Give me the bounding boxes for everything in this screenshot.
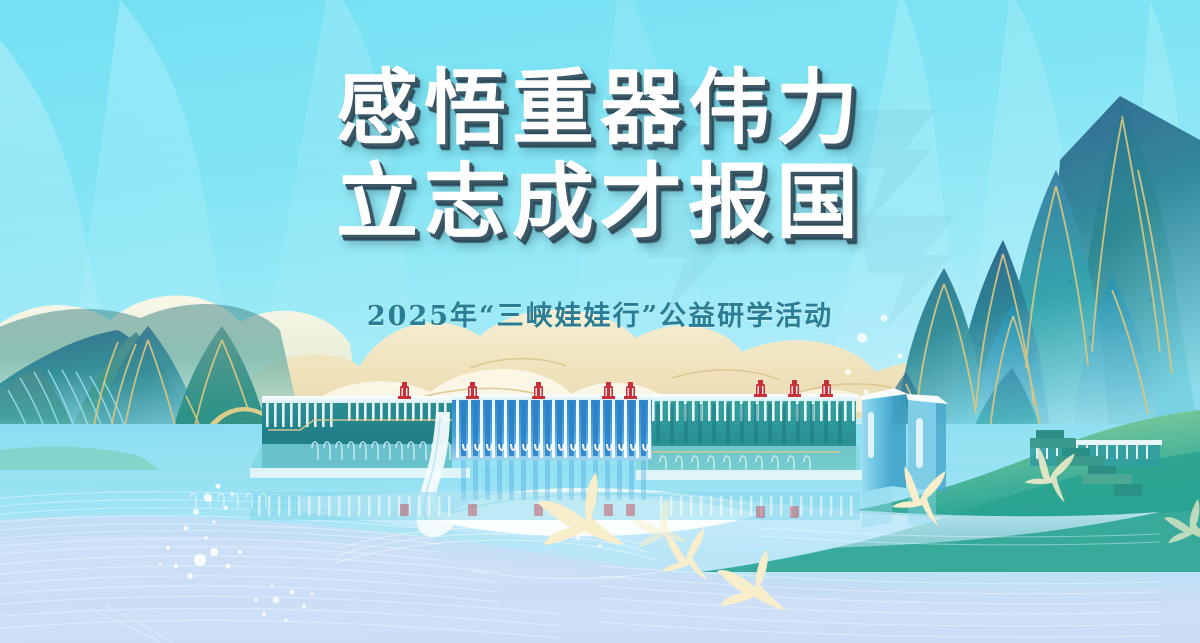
swallow-bird	[716, 549, 786, 615]
swallow-birds	[534, 439, 1200, 615]
banner-root: 感悟重器伟力 立志成才报国 2025年“三峡娃娃行”公益研学活动	[0, 0, 1200, 643]
title-block: 感悟重器伟力 立志成才报国	[0, 62, 1200, 250]
swallow-bird	[1022, 439, 1085, 502]
title-line-1: 感悟重器伟力	[0, 62, 1200, 156]
swallow-bird	[1162, 497, 1200, 549]
swallow-bird	[534, 470, 625, 556]
title-line-2: 立志成才报国	[0, 156, 1200, 250]
swallow-bird	[628, 496, 689, 555]
subtitle: 2025年“三峡娃娃行”公益研学活动	[0, 294, 1200, 333]
swallow-bird	[889, 457, 956, 526]
